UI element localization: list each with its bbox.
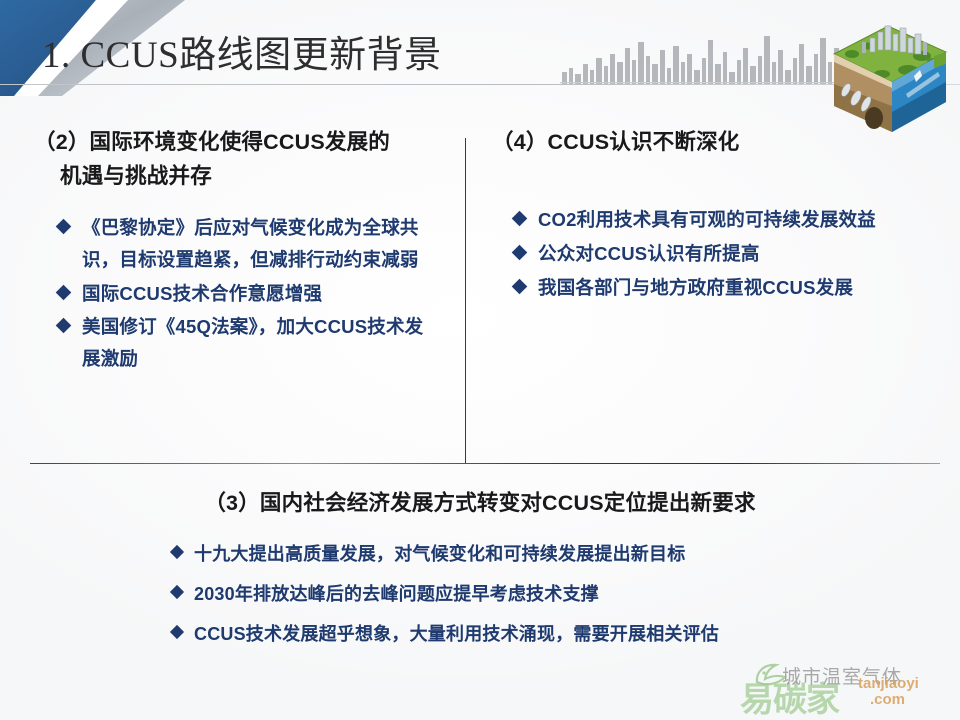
- left-section: （2）国际环境变化使得CCUS发展的 机遇与挑战并存 《巴黎协定》后应对气候变化…: [34, 126, 454, 377]
- diamond-bullet-icon: [512, 245, 528, 261]
- header-divider: [0, 84, 960, 85]
- horizontal-divider: [30, 463, 940, 464]
- list-item: CCUS技术发展超乎想象，大量利用技术涌现，需要开展相关评估: [172, 619, 930, 650]
- list-item-text: 《巴黎协定》后应对气候变化成为全球共识，目标设置趋紧，但减排行动约束减弱: [82, 212, 434, 276]
- bottom-bullet-list: 十九大提出高质量发展，对气候变化和可持续发展提出新目标 2030年排放达峰后的去…: [30, 539, 930, 650]
- diamond-bullet-icon: [512, 211, 528, 227]
- diamond-bullet-icon: [56, 219, 72, 235]
- list-item-text: 美国修订《45Q法案》，加大CCUS技术发展激励: [82, 311, 434, 375]
- list-item: 我国各部门与地方政府重视CCUS发展: [492, 272, 944, 304]
- list-item: 2030年排放达峰后的去峰问题应提早考虑技术支撑: [172, 579, 930, 610]
- vertical-divider: [465, 138, 466, 464]
- city-skyline-icon: [560, 28, 860, 84]
- diamond-bullet-icon: [170, 585, 184, 599]
- right-section-heading: （4）CCUS认识不断深化: [492, 126, 944, 160]
- diamond-bullet-icon: [170, 545, 184, 559]
- diamond-bullet-icon: [56, 318, 72, 334]
- list-item: 《巴黎协定》后应对气候变化成为全球共识，目标设置趋紧，但减排行动约束减弱: [34, 212, 454, 276]
- left-bullet-list: 《巴黎协定》后应对气候变化成为全球共识，目标设置趋紧，但减排行动约束减弱 国际C…: [34, 212, 454, 375]
- list-item-text: 2030年排放达峰后的去峰问题应提早考虑技术支撑: [194, 579, 930, 610]
- list-item-text: 十九大提出高质量发展，对气候变化和可持续发展提出新目标: [194, 539, 930, 570]
- diamond-bullet-icon: [512, 278, 528, 294]
- list-item-text: CO2利用技术具有可观的可持续发展效益: [538, 204, 944, 236]
- right-bullet-list: CO2利用技术具有可观的可持续发展效益 公众对CCUS认识有所提高 我国各部门与…: [492, 204, 944, 303]
- right-section: （4）CCUS认识不断深化 CO2利用技术具有可观的可持续发展效益 公众对CCU…: [492, 126, 944, 305]
- list-item: 国际CCUS技术合作意愿增强: [34, 278, 454, 310]
- list-item: 公众对CCUS认识有所提高: [492, 238, 944, 270]
- earth-cube-icon: [822, 14, 954, 136]
- diamond-bullet-icon: [170, 625, 184, 639]
- page-title: 1. CCUS路线图更新背景: [42, 24, 442, 78]
- list-item-text: 我国各部门与地方政府重视CCUS发展: [538, 272, 944, 304]
- list-item: CO2利用技术具有可观的可持续发展效益: [492, 204, 944, 236]
- brand-name: tanjiaoyi: [858, 675, 919, 692]
- bottom-section-heading: （3）国内社会经济发展方式转变对CCUS定位提出新要求: [30, 486, 930, 517]
- list-item: 美国修订《45Q法案》，加大CCUS技术发展激励: [34, 311, 454, 375]
- left-heading-line1: （2）国际环境变化使得CCUS发展的: [34, 130, 390, 154]
- brand-domain-watermark: tanjiaoyi .com: [858, 676, 919, 708]
- list-item: 十九大提出高质量发展，对气候变化和可持续发展提出新目标: [172, 539, 930, 570]
- brand-domain: .com: [858, 692, 919, 708]
- list-item-text: CCUS技术发展超乎想象，大量利用技术涌现，需要开展相关评估: [194, 619, 930, 650]
- list-item-text: 国际CCUS技术合作意愿增强: [82, 278, 434, 310]
- left-heading-line2: 机遇与挑战并存: [34, 160, 454, 194]
- bottom-section: （3）国内社会经济发展方式转变对CCUS定位提出新要求 十九大提出高质量发展，对…: [30, 486, 930, 659]
- diamond-bullet-icon: [56, 284, 72, 300]
- left-section-heading: （2）国际环境变化使得CCUS发展的 机遇与挑战并存: [34, 126, 454, 194]
- slide-canvas: 1. CCUS路线图更新背景: [0, 0, 960, 720]
- list-item-text: 公众对CCUS认识有所提高: [538, 238, 944, 270]
